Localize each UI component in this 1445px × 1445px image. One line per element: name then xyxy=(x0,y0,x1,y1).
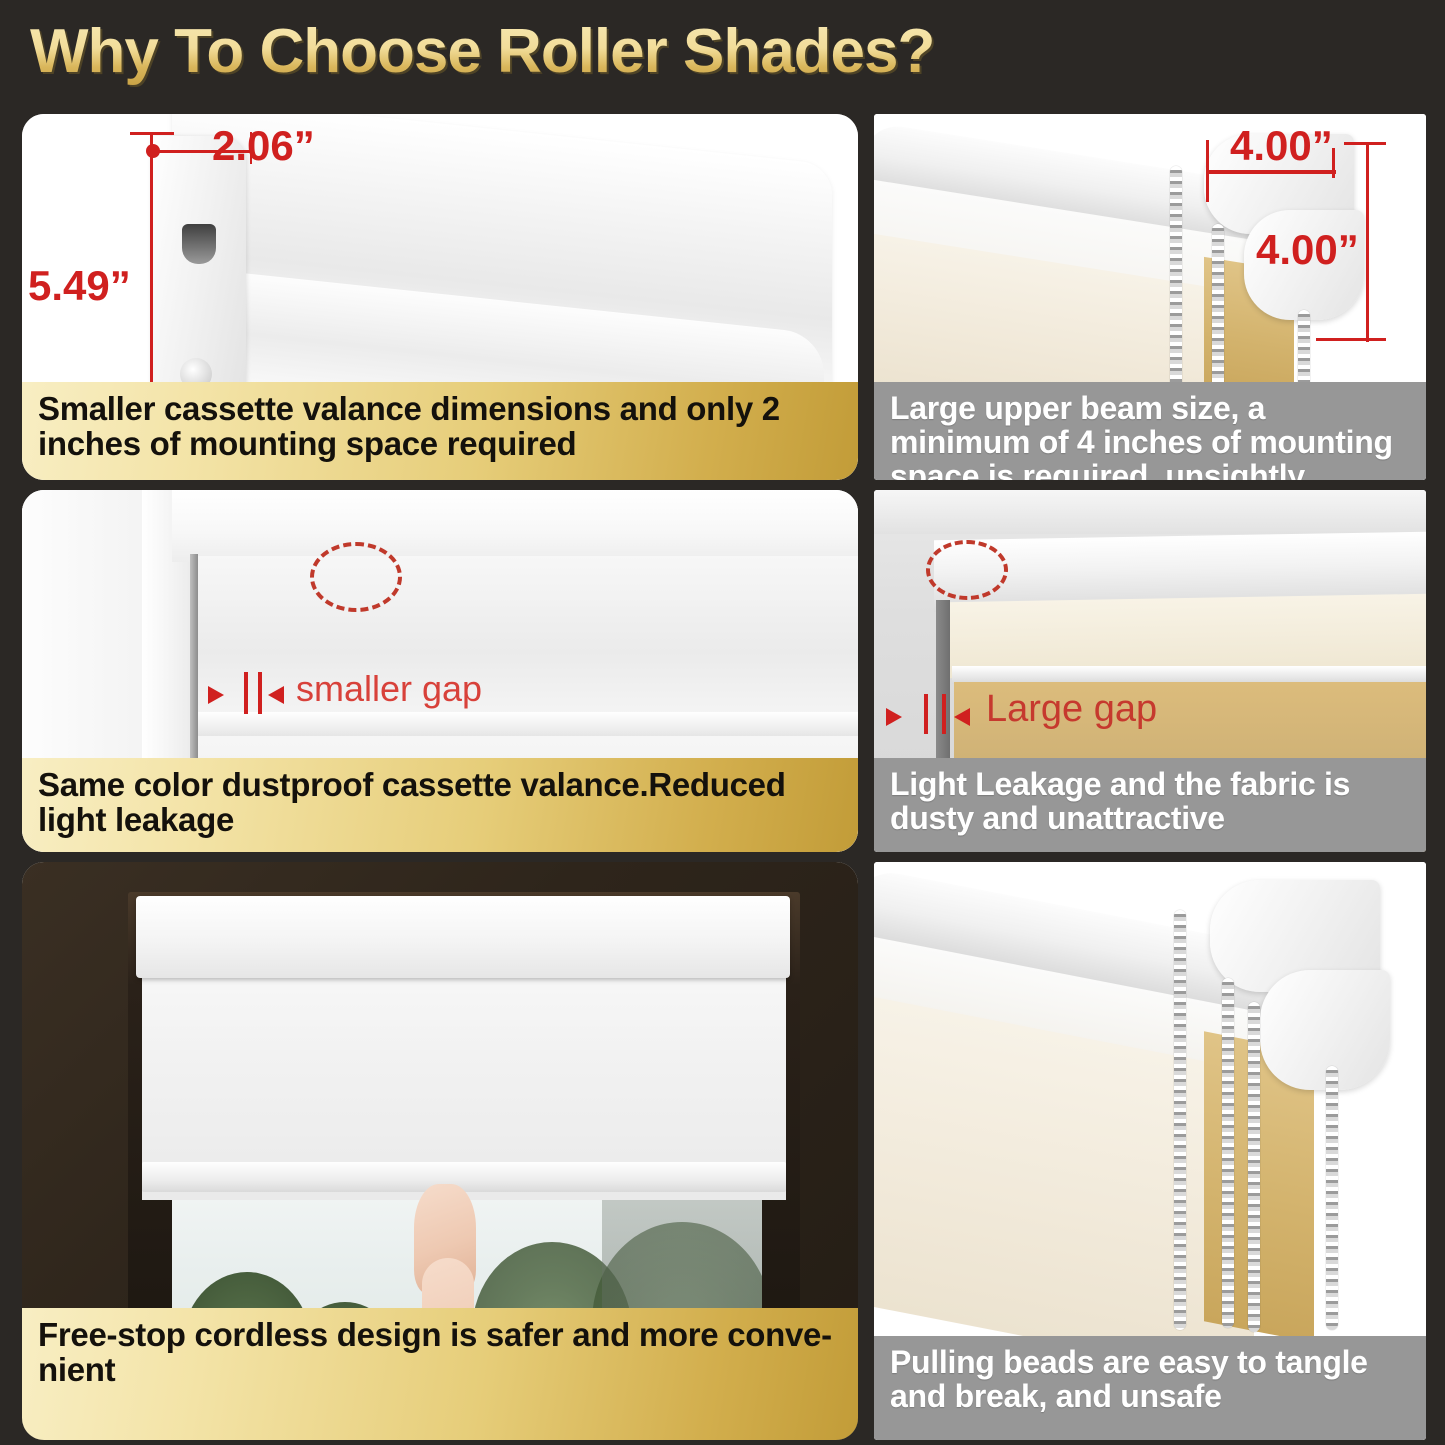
bead-chain-left-6 xyxy=(1174,910,1186,1330)
dim-cap-beam-bottom xyxy=(1316,338,1386,341)
panel-pulling-beads: Pulling beads are easy to tangle and bre… xyxy=(874,862,1426,1440)
bead-chain-middle-6 xyxy=(1222,978,1234,1328)
dim-line-beam-width xyxy=(1206,170,1336,174)
dim-line-beam-height xyxy=(1366,142,1369,342)
panel-cordless-design: Free-stop cordless design is safer and m… xyxy=(22,862,858,1440)
gap-arrow-right-icon-con xyxy=(954,708,970,726)
bracket-lower-6 xyxy=(1260,970,1390,1090)
gap-tick-right-con xyxy=(942,694,946,734)
panel-large-upper-beam: 4.00” 4.00” Large upper beam size, a min… xyxy=(874,114,1426,480)
dim-label-beam-width: 4.00” xyxy=(1230,122,1333,170)
gap-arrow-left-icon xyxy=(208,686,224,704)
panel-5-caption: Free-stop cordless design is safer and m… xyxy=(22,1308,858,1440)
valance-rail xyxy=(198,712,858,736)
dim-dot-left xyxy=(146,144,160,158)
panel-light-leakage: Large gap Light Leakage and the fabric i… xyxy=(874,490,1426,852)
window-head-trim xyxy=(172,490,858,562)
gap-label-large: Large gap xyxy=(986,688,1157,731)
panel-2-caption: Large upper beam size, a minimum of 4 in… xyxy=(874,382,1426,480)
bead-chain-middle2-6 xyxy=(1248,1002,1260,1332)
panel-3-caption: Same color dustproof cassette valance.Re… xyxy=(22,758,858,852)
shade-valance xyxy=(136,896,790,978)
dim-label-height: 5.49” xyxy=(28,262,131,310)
gap-tick-left xyxy=(244,672,248,714)
panel-4-caption: Light Leakage and the fabric is dusty an… xyxy=(874,758,1426,852)
bead-chain-left xyxy=(1170,166,1182,396)
dim-cap-beam-top xyxy=(1344,142,1386,145)
gap-arrow-left-icon-con xyxy=(886,708,902,726)
gap-tick-left-con xyxy=(924,694,928,734)
bead-chain-right-6 xyxy=(1326,1066,1338,1330)
shade-bottom-rail xyxy=(142,1162,786,1192)
bead-chain-middle xyxy=(1212,224,1224,400)
dim-label-beam-height: 4.00” xyxy=(1256,226,1359,274)
gap-arrow-right-icon xyxy=(268,686,284,704)
panel-6-caption: Pulling beads are easy to tangle and bre… xyxy=(874,1336,1426,1440)
gap-label-smaller: smaller gap xyxy=(296,668,482,710)
panel-1-caption: Smaller cassette valance dimensions and … xyxy=(22,382,858,480)
bracket-slot-icon xyxy=(182,224,216,264)
ceiling-strip xyxy=(874,490,1426,534)
page-title: Why To Choose Roller Shades? xyxy=(30,16,934,87)
dim-cap-top xyxy=(130,132,174,135)
panel-dustproof-valance: smaller gap Same color dustproof cassett… xyxy=(22,490,858,852)
panel-smaller-cassette: 2.06” 5.49” Smaller cassette valance dim… xyxy=(22,114,858,480)
highlight-circle-icon xyxy=(310,542,402,612)
highlight-circle-icon-con xyxy=(926,540,1008,600)
comparison-grid: 2.06” 5.49” Smaller cassette valance dim… xyxy=(0,108,1445,1445)
dim-label-width: 2.06” xyxy=(212,122,315,170)
gap-tick-right xyxy=(258,672,262,714)
header-bar: Why To Choose Roller Shades? Why To Choo… xyxy=(0,0,1445,108)
